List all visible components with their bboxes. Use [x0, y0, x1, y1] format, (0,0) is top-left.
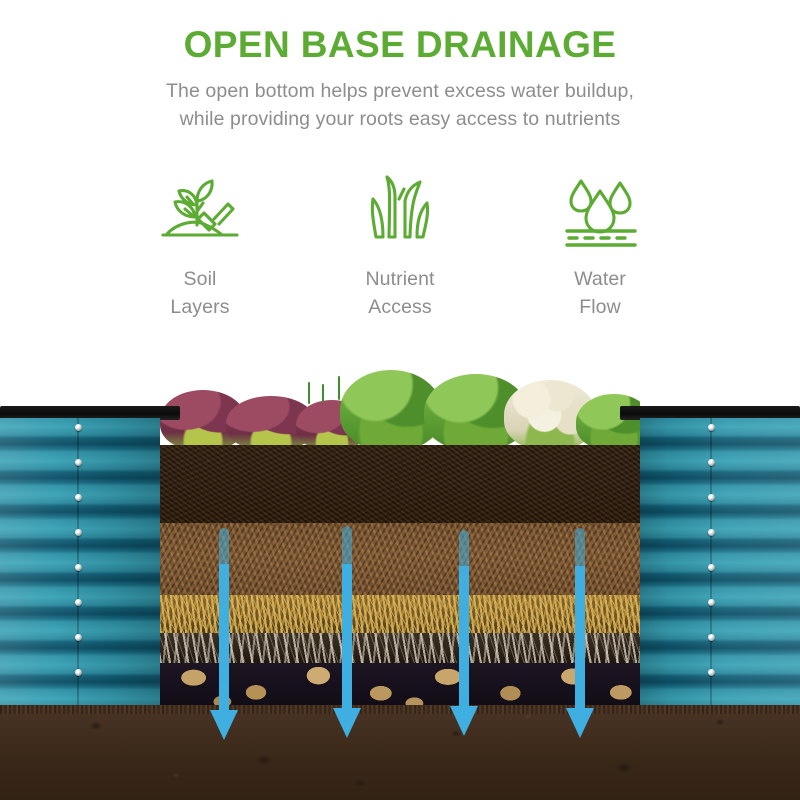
feature-label-line-2: Layers [100, 294, 300, 322]
bed-cross-section [160, 445, 640, 705]
sprout-stem [322, 384, 324, 402]
feature-soil-layers: Soil Layers [100, 168, 300, 321]
water-droplets-icon [500, 168, 700, 254]
product-scene [0, 350, 800, 800]
feature-label-line-2: Access [300, 294, 500, 322]
panel-rivet [708, 494, 715, 501]
bed-panel-right [640, 418, 800, 705]
sprout-stem [338, 376, 340, 400]
plant-shovel-icon [100, 168, 300, 254]
feature-label-line-1: Nutrient [300, 266, 500, 294]
panel-rivet [75, 669, 82, 676]
infographic-page: OPEN BASE DRAINAGE The open bottom helps… [0, 0, 800, 800]
subtitle-line-2: while providing your roots easy access t… [0, 106, 800, 134]
soil-layer-compost-mulch [160, 523, 640, 595]
soil-layer-topsoil [160, 445, 640, 523]
panel-rivet [75, 599, 82, 606]
plant-group [152, 358, 652, 450]
panel-sheen [640, 418, 800, 705]
feature-list: Soil Layers Nutrient Access [0, 168, 800, 321]
panel-rivet [75, 459, 82, 466]
panel-rivet [75, 529, 82, 536]
sprout-stem [308, 382, 310, 404]
panel-rivet [75, 564, 82, 571]
grass-blades-icon [300, 168, 500, 254]
panel-rivet [75, 494, 82, 501]
ground-soil [0, 705, 800, 800]
feature-label-nutrient-access: Nutrient Access [300, 266, 500, 321]
panel-rivet [708, 599, 715, 606]
panel-rivet [708, 634, 715, 641]
panel-rivet [708, 564, 715, 571]
page-title: OPEN BASE DRAINAGE [0, 26, 800, 65]
feature-nutrient-access: Nutrient Access [300, 168, 500, 321]
feature-label-soil-layers: Soil Layers [100, 266, 300, 321]
feature-label-line-1: Water [500, 266, 700, 294]
panel-rivet [708, 459, 715, 466]
panel-rivet [75, 424, 82, 431]
feature-water-flow: Water Flow [500, 168, 700, 321]
panel-rivet [708, 529, 715, 536]
panel-rivet [708, 424, 715, 431]
soil-layer-twigs [160, 633, 640, 663]
feature-label-line-2: Flow [500, 294, 700, 322]
header: OPEN BASE DRAINAGE The open bottom helps… [0, 0, 800, 134]
soil-layer-straw [160, 595, 640, 633]
page-subtitle: The open bottom helps prevent excess wat… [0, 78, 800, 134]
panel-rivet [708, 669, 715, 676]
bed-panel-left [0, 418, 160, 705]
subtitle-line-1: The open bottom helps prevent excess wat… [0, 78, 800, 106]
soil-layer-logs [160, 663, 640, 705]
feature-label-water-flow: Water Flow [500, 266, 700, 321]
panel-rivet [75, 634, 82, 641]
feature-label-line-1: Soil [100, 266, 300, 294]
